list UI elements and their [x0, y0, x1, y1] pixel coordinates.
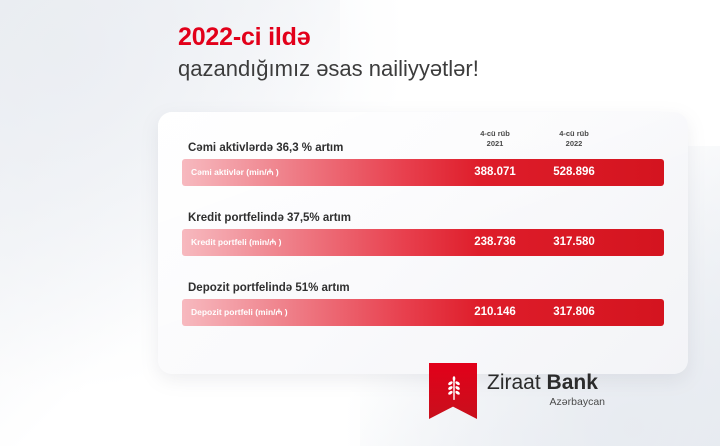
logo-text: Ziraat Bank Azərbaycan	[487, 371, 605, 408]
logo-name-second: Bank	[547, 371, 598, 394]
metric-value-2022: 317.806	[537, 299, 611, 326]
headline: 2022-ci ildə qazandığımız əsas nailiyyət…	[178, 22, 479, 84]
metric-bar: Depozit portfeli (min/₼ ) 210.146 317.80…	[182, 299, 664, 326]
logo-name: Ziraat Bank	[487, 371, 605, 395]
metric-title: Cəmi aktivlərdə 36,3 % artım	[188, 142, 664, 154]
metric-bar: Kredit portfeli (min/₼ ) 238.736 317.580	[182, 229, 664, 256]
metric-bar-label: Depozit portfeli (min/₼ )	[191, 299, 288, 326]
metric-row: Cəmi aktivlərdə 36,3 % artım Cəmi aktivl…	[182, 142, 664, 186]
metric-value-2021: 388.071	[458, 159, 532, 186]
ziraat-bank-logo: Ziraat Bank Azərbaycan	[429, 363, 631, 419]
logo-name-first: Ziraat	[487, 371, 541, 394]
metric-bar: Cəmi aktivlər (min/₼ ) 388.071 528.896	[182, 159, 664, 186]
headline-line-1: 2022-ci ildə	[178, 22, 479, 52]
metric-value-2021: 238.736	[458, 229, 532, 256]
metric-bar-label: Kredit portfeli (min/₼ )	[191, 229, 281, 256]
poster: 2022-ci ildə qazandığımız əsas nailiyyət…	[0, 0, 720, 446]
metric-bar-label: Cəmi aktivlər (min/₼ )	[191, 159, 279, 186]
metric-title: Kredit portfelində 37,5% artım	[188, 212, 664, 224]
column-header-2021-quarter: 4-cü rüb	[458, 129, 532, 139]
wheat-icon	[445, 376, 463, 402]
metric-value-2022: 317.580	[537, 229, 611, 256]
results-card: 4-cü rüb 2021 4-cü rüb 2022 Cəmi aktivlə…	[158, 112, 688, 374]
metric-row: Depozit portfelində 51% artım Depozit po…	[182, 282, 664, 326]
column-header-2022-quarter: 4-cü rüb	[537, 129, 611, 139]
logo-subtitle: Azərbaycan	[487, 396, 605, 408]
headline-line-2: qazandığımız əsas nailiyyətlər!	[178, 54, 479, 84]
metric-title: Depozit portfelində 51% artım	[188, 282, 664, 294]
metric-row: Kredit portfelində 37,5% artım Kredit po…	[182, 212, 664, 256]
metric-value-2021: 210.146	[458, 299, 532, 326]
metric-value-2022: 528.896	[537, 159, 611, 186]
